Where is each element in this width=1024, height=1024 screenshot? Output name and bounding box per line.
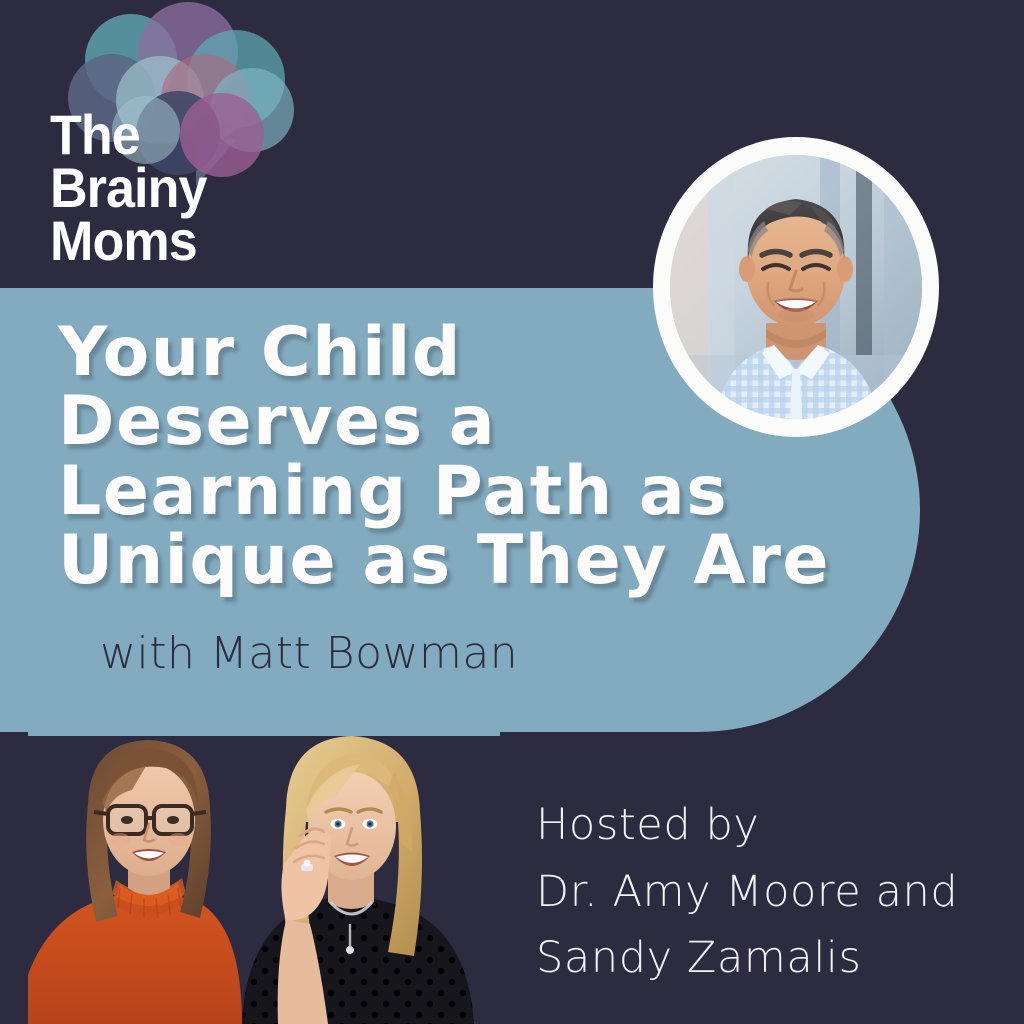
host-name-line-1: Dr. Amy Moore and — [536, 859, 958, 926]
hosted-by-label: Hosted by — [536, 792, 958, 859]
episode-title-line-3: Learning Path as — [58, 457, 918, 526]
episode-title-line-4: Unique as They Are — [58, 526, 918, 595]
logo-line-3: Moms — [50, 214, 292, 267]
brainy-moms-logo: The Brainy Moms — [0, 0, 340, 300]
logo-line-2: Brainy — [50, 161, 292, 214]
hosts-portrait-image — [28, 712, 500, 1024]
podcast-cover-art: The Brainy Moms Your Child Deserves a Le… — [0, 0, 1024, 1024]
hosts-photo — [28, 712, 500, 1024]
guest-photo — [670, 155, 922, 419]
logo-line-1: The — [50, 108, 292, 161]
guest-credit: with Matt Bowman — [100, 628, 518, 679]
host-name-line-2: Sandy Zamalis — [536, 925, 958, 992]
hosted-by-block: Hosted by Dr. Amy Moore and Sandy Zamali… — [536, 792, 958, 992]
logo-wordmark: The Brainy Moms — [50, 108, 292, 268]
guest-photo-ring — [653, 137, 939, 437]
guest-portrait-image — [670, 155, 922, 419]
